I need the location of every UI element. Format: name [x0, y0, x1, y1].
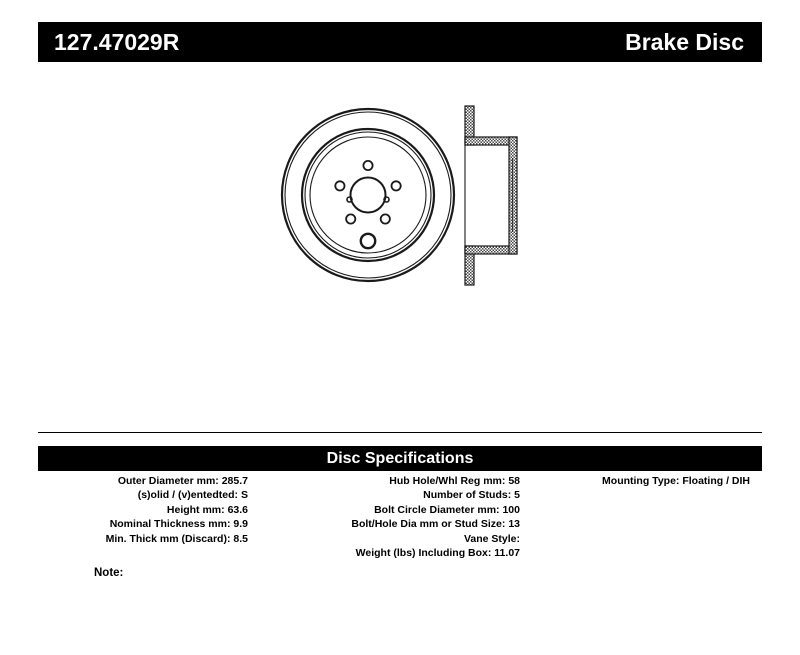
spec-row: Hub Hole/Whl Reg mm: 58	[248, 474, 520, 488]
spec-label: (s)olid / (v)entedted:	[138, 489, 238, 501]
drawing-canvas	[38, 80, 762, 410]
spec-column-left: Outer Diameter mm: 285.7 (s)olid / (v)en…	[38, 474, 248, 560]
hat-cavity-outline	[465, 145, 509, 246]
spec-row: Mounting Type: Floating / DIH	[520, 474, 750, 488]
spec-value: 13	[508, 518, 520, 530]
spec-table: Outer Diameter mm: 285.7 (s)olid / (v)en…	[38, 474, 762, 560]
spec-row: Vane Style:	[248, 532, 520, 546]
header-banner: 127.47029R Brake Disc	[38, 22, 762, 62]
spec-section-title: Disc Specifications	[327, 451, 474, 467]
spec-label: Nominal Thickness mm:	[110, 518, 231, 530]
note-label: Note:	[94, 567, 123, 579]
spec-row: Height mm: 63.6	[38, 503, 248, 517]
spec-value: 285.7	[222, 475, 248, 487]
spec-row: Weight (lbs) Including Box: 11.07	[248, 546, 520, 560]
hat-outer-wall	[509, 137, 517, 254]
spec-section-banner: Disc Specifications	[38, 446, 762, 471]
spec-label: Outer Diameter mm:	[118, 475, 219, 487]
spec-value: S	[241, 489, 248, 501]
spec-label: Bolt Circle Diameter mm:	[374, 504, 499, 516]
spec-row: (s)olid / (v)entedted: S	[38, 488, 248, 502]
spec-label: Vane Style:	[464, 533, 520, 545]
spec-value: 63.6	[228, 504, 248, 516]
spec-value: 11.07	[494, 547, 520, 559]
spec-label: Number of Studs:	[423, 489, 511, 501]
spec-row: Nominal Thickness mm: 9.9	[38, 517, 248, 531]
spec-label: Hub Hole/Whl Reg mm:	[389, 475, 505, 487]
part-number-label: 127.47029R	[54, 31, 179, 54]
spec-value: 100	[502, 504, 520, 516]
section-divider	[38, 432, 762, 433]
spec-row: Outer Diameter mm: 285.7	[38, 474, 248, 488]
note-field: Note:	[94, 568, 127, 580]
spec-value: Floating / DIH	[682, 475, 750, 487]
spec-label: Weight (lbs) Including Box:	[356, 547, 492, 559]
brake-disc-cross-section-view	[465, 106, 517, 285]
spec-label: Height mm:	[167, 504, 225, 516]
product-type-label: Brake Disc	[625, 31, 744, 54]
spec-row: Min. Thick mm (Discard): 8.5	[38, 532, 248, 546]
spec-row: Bolt/Hole Dia mm or Stud Size: 13	[248, 517, 520, 531]
spec-column-middle: Hub Hole/Whl Reg mm: 58 Number of Studs:…	[248, 474, 520, 560]
spec-label: Bolt/Hole Dia mm or Stud Size:	[351, 518, 505, 530]
spec-column-right: Mounting Type: Floating / DIH	[520, 474, 762, 560]
spec-value: 58	[508, 475, 520, 487]
spec-row: Bolt Circle Diameter mm: 100	[248, 503, 520, 517]
technical-drawing	[38, 80, 762, 410]
spec-value: 9.9	[233, 518, 248, 530]
spec-value: 8.5	[233, 533, 248, 545]
spec-label: Mounting Type:	[602, 475, 679, 487]
spec-row: Number of Studs: 5	[248, 488, 520, 502]
brake-disc-front-view	[282, 109, 454, 281]
spec-label: Min. Thick mm (Discard):	[106, 533, 231, 545]
